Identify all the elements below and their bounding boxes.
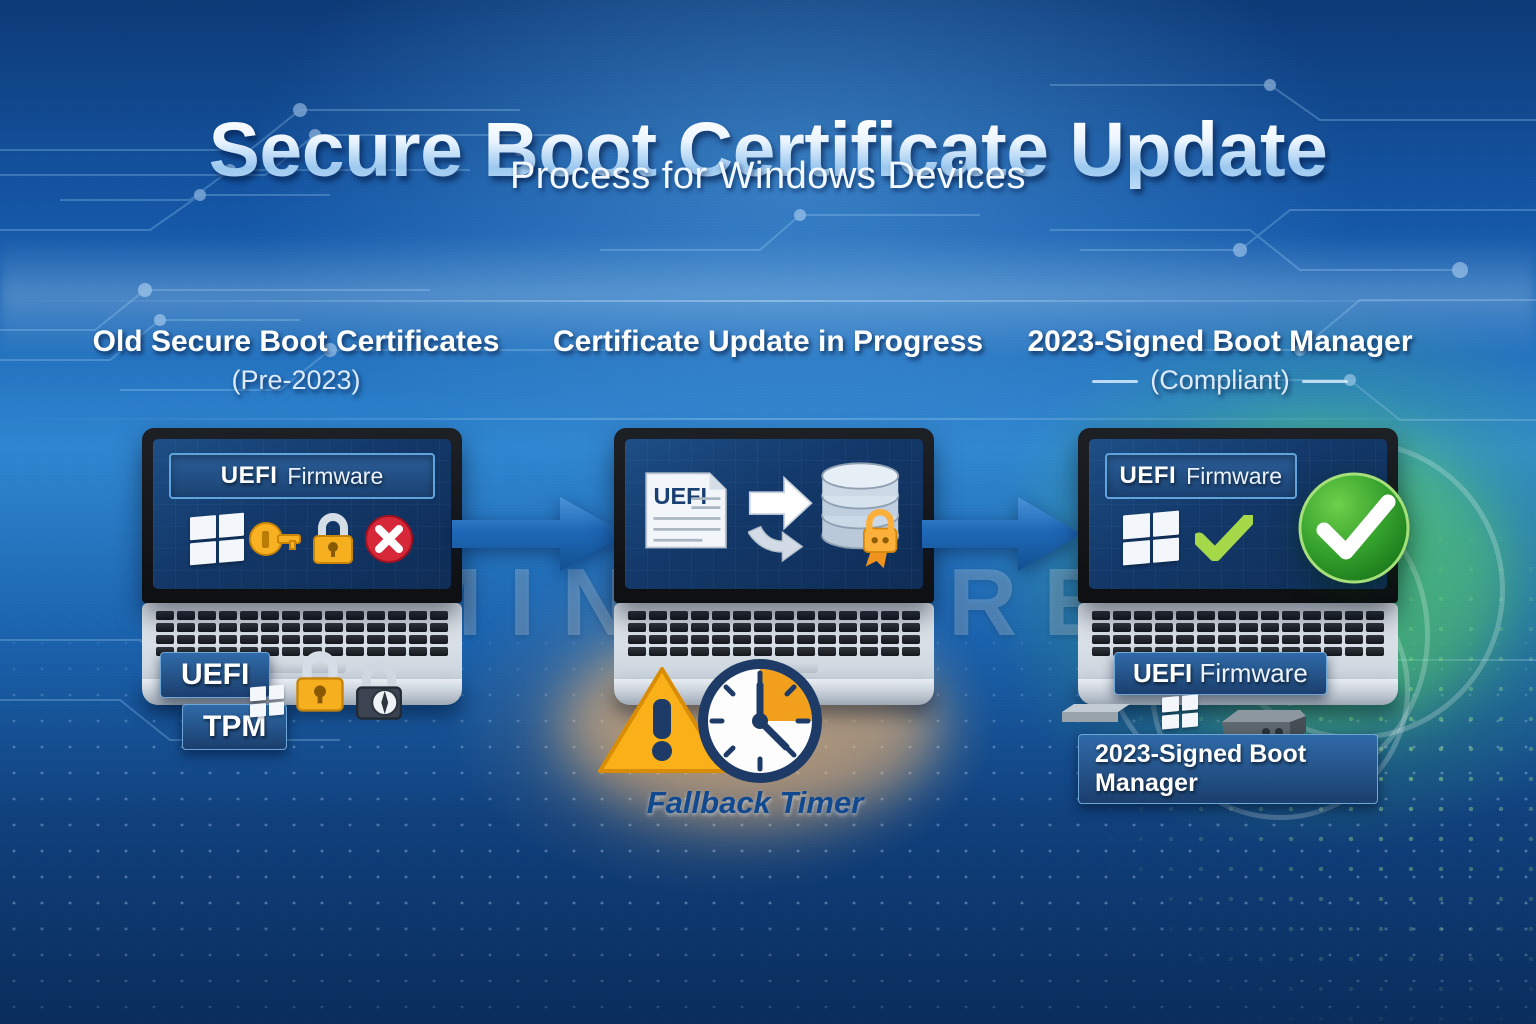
padlock-orange-icon xyxy=(306,511,360,567)
laptop-screen: UEFI xyxy=(625,439,923,589)
column-heading-text: 2023-Signed Boot Manager xyxy=(960,325,1480,359)
uefi-badge-label: UEFI xyxy=(1133,658,1192,689)
uefi-label: UEFI xyxy=(221,462,278,490)
clock-icon xyxy=(694,655,826,787)
column-subheading-text: (Pre-2023) xyxy=(36,365,556,396)
keyboard-keys xyxy=(628,611,920,656)
divider-line-upper xyxy=(0,300,1536,302)
red-x-icon xyxy=(364,514,414,564)
infographic-canvas: MINDCORE Secure Boot Certificate Update … xyxy=(0,0,1536,1024)
fallback-timer-group: Fallback Timer xyxy=(590,655,920,815)
column-heading-text: Old Secure Boot Certificates xyxy=(36,325,556,359)
page-subtitle: Process for Windows Devices xyxy=(0,155,1536,198)
windows-logo-icon xyxy=(250,685,284,718)
svg-text:UEFI: UEFI xyxy=(653,483,707,509)
signed-boot-manager-badge-group: UEFI Firmware 2023-Signed Boot Manager xyxy=(1078,652,1378,772)
device-tray-icon xyxy=(1062,702,1132,728)
firmware-badge-label: Firmware xyxy=(1199,658,1307,689)
windows-logo-icon xyxy=(1123,511,1179,566)
column-heading-text: Certificate Update in Progress xyxy=(508,325,1028,359)
uefi-firmware-badge: UEFI Firmware xyxy=(1114,652,1327,695)
dash-left xyxy=(1092,380,1138,383)
database-icon xyxy=(815,450,909,578)
padlock-orange-icon xyxy=(288,648,352,716)
firmware-label: Firmware xyxy=(287,463,383,490)
keyboard-keys xyxy=(1092,611,1384,656)
laptop-lid: UEFI xyxy=(614,428,934,603)
uefi-firmware-banner: UEFI Firmware xyxy=(169,453,435,499)
boot-manager-badge-label: 2023-Signed Boot Manager xyxy=(1095,740,1361,798)
fallback-timer-caption: Fallback Timer xyxy=(590,785,920,821)
divider-line-lower xyxy=(0,418,1536,420)
dash-right xyxy=(1302,380,1348,383)
arrow-right-icon xyxy=(748,456,813,572)
windows-logo-icon xyxy=(190,513,244,566)
column-heading-old-certificates: Old Secure Boot Certificates (Pre-2023) xyxy=(36,325,556,396)
laptop-screen: UEFI Firmware xyxy=(153,439,451,589)
uefi-badge-label: UEFI xyxy=(181,658,249,692)
firmware-label: Firmware xyxy=(1186,463,1282,490)
boot-manager-badge: 2023-Signed Boot Manager xyxy=(1078,734,1378,804)
column-heading-signed-boot-manager: 2023-Signed Boot Manager (Compliant) xyxy=(960,325,1480,396)
arrow-old-to-update-icon xyxy=(452,495,627,573)
uefi-label: UEFI xyxy=(1120,462,1177,490)
key-icon xyxy=(248,513,302,565)
column-heading-update-in-progress: Certificate Update in Progress xyxy=(508,325,1028,359)
old-certificates-badge-group: UEFI TPM xyxy=(160,648,450,758)
document-icon: UEFI xyxy=(639,455,746,573)
laptop-lid: UEFI Firmware xyxy=(142,428,462,603)
column-subheading-text: (Compliant) xyxy=(960,365,1480,396)
padlock-dark-icon xyxy=(348,658,410,724)
arrow-update-to-signed-icon xyxy=(922,495,1082,573)
subheading-label: (Compliant) xyxy=(1150,365,1290,395)
green-check-icon xyxy=(1195,515,1253,561)
uefi-firmware-banner: UEFI Firmware xyxy=(1105,453,1297,499)
windows-logo-icon xyxy=(1162,694,1198,729)
